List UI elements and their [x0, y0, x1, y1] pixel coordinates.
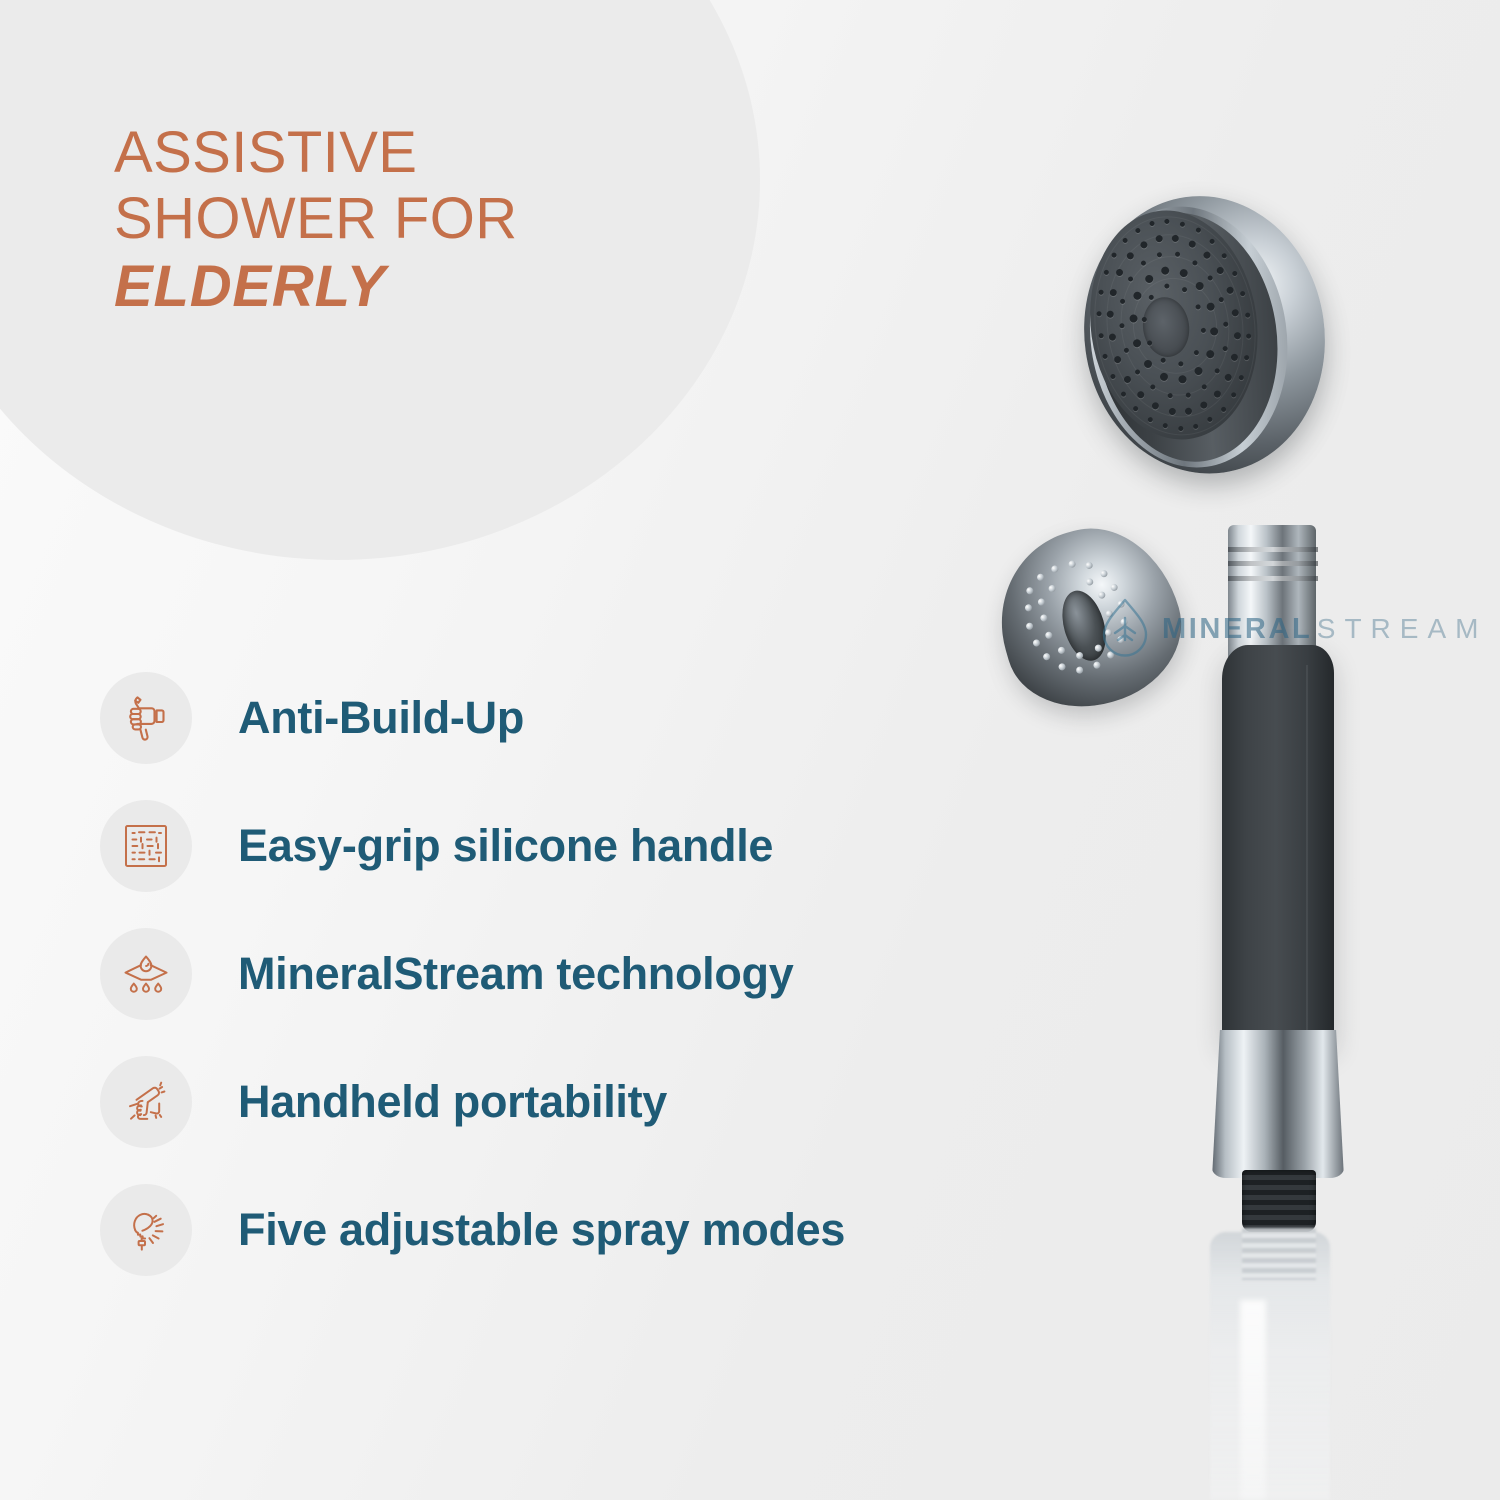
nozzle-hole — [1205, 349, 1214, 358]
list-item-label: Easy-grip silicone handle — [238, 820, 773, 872]
silicone-grip-handle — [1222, 645, 1334, 1045]
list-item: Anti-Build-Up — [100, 672, 845, 764]
water-filter-drops-icon — [100, 928, 192, 1020]
nozzle-hole — [1147, 416, 1153, 422]
nozzle-hole — [1140, 240, 1148, 248]
product-reflection-thread — [1242, 1228, 1316, 1280]
neck-ring — [1228, 576, 1318, 581]
neck-ring — [1228, 547, 1318, 552]
list-item-label: Five adjustable spray modes — [238, 1204, 845, 1256]
product-reflection-highlight — [1240, 1300, 1266, 1500]
chrome-base-collar — [1212, 1030, 1344, 1178]
list-item: Five adjustable spray modes — [100, 1184, 845, 1276]
list-item-label: Handheld portability — [238, 1076, 667, 1128]
shower-head-spray-icon — [100, 1184, 192, 1276]
shower-head-assembly — [1066, 179, 1355, 511]
list-item: MineralStream technology — [100, 928, 845, 1020]
nozzle-hole — [1134, 369, 1140, 375]
neck-ring — [1228, 561, 1318, 566]
nozzle-hole — [1244, 312, 1250, 318]
hand-spray-gun-icon — [100, 1056, 192, 1148]
nozzle-hole — [1120, 391, 1126, 397]
feature-list: Anti-Build-Up Easy-grip silicone handle — [100, 672, 845, 1276]
headline-line-2: SHOWER FOR — [114, 186, 734, 252]
nozzle-hole — [1098, 332, 1104, 338]
nozzle-hole — [1109, 288, 1117, 296]
nozzle-hole — [1110, 373, 1116, 379]
headline-emphasis: ELDERLY — [114, 254, 734, 320]
nozzle-hole — [1135, 227, 1141, 233]
grip-seam — [1306, 665, 1308, 1035]
headline-line-1: ASSISTIVE — [114, 120, 734, 186]
list-item: Handheld portability — [100, 1056, 845, 1148]
nozzle-hole — [1155, 234, 1163, 242]
list-item: Easy-grip silicone handle — [100, 800, 845, 892]
nozzle-hole — [1164, 283, 1170, 289]
nozzle-hole — [1133, 406, 1139, 412]
grip-texture-icon — [100, 800, 192, 892]
nozzle-hole — [1119, 323, 1125, 329]
nozzle-hole — [1214, 368, 1220, 374]
nozzle-hole — [1220, 406, 1226, 412]
list-item-label: MineralStream technology — [238, 948, 793, 1000]
hand-wrench-icon — [100, 672, 192, 764]
nozzle-hole — [1178, 426, 1184, 432]
nozzle-hole — [1148, 294, 1154, 300]
product-image — [990, 195, 1410, 1225]
shower-lever-paddle — [979, 509, 1198, 726]
list-item-label: Anti-Build-Up — [238, 692, 524, 744]
product-feature-graphic: ASSISTIVE SHOWER FOR ELDERLY Anti- — [0, 0, 1500, 1500]
nozzle-hole — [1188, 240, 1196, 248]
page-title: ASSISTIVE SHOWER FOR ELDERLY — [114, 120, 734, 320]
threaded-hose-connector — [1242, 1170, 1316, 1232]
